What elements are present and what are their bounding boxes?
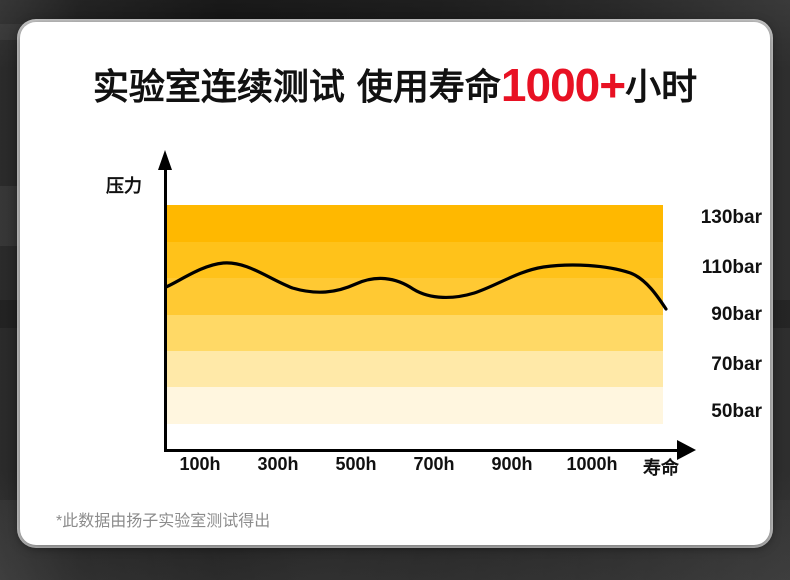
x-tick-label: 900h [491,454,532,475]
pressure-life-chart: 压力 130bar110bar90bar70bar50bar 100h300h5… [20,22,770,545]
pressure-curve [166,205,666,424]
x-tick-label: 100h [179,454,220,475]
pressure-curve-path [166,263,666,309]
x-tick-label: 1000h [566,454,617,475]
x-axis-line [166,449,679,452]
y-axis-arrow-icon [158,150,172,170]
x-axis-title: 寿命 [643,454,679,480]
x-tick-label: 300h [257,454,298,475]
x-axis-arrow-icon [677,440,696,460]
footnote-text: *此数据由扬子实验室测试得出 [56,507,270,531]
y-axis-title: 压力 [106,172,142,198]
content-card: 实验室连续测试使用寿命1000+小时 压力 130bar110bar90bar7… [20,22,770,545]
x-tick-label: 700h [413,454,454,475]
x-tick-label: 500h [335,454,376,475]
